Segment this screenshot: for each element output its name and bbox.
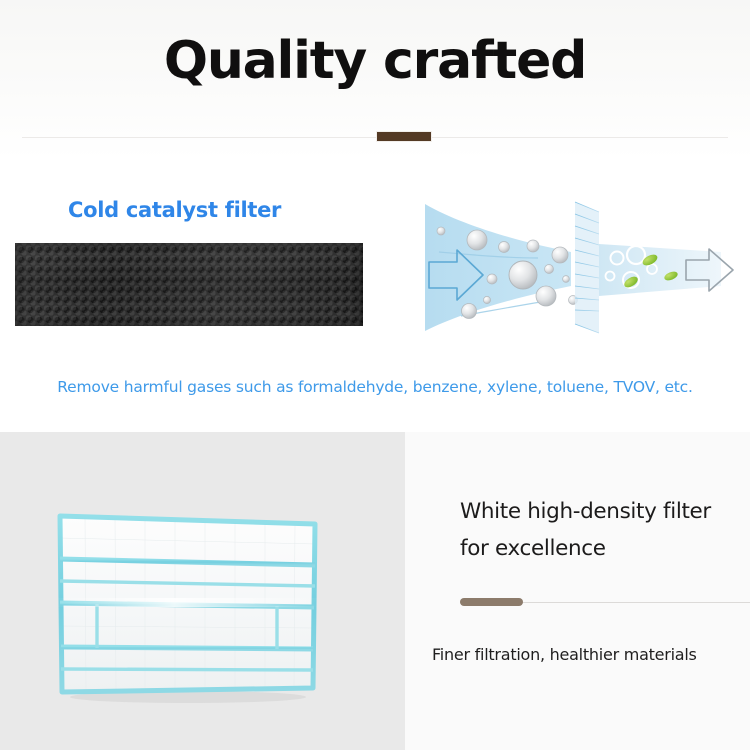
honeycomb-carbon-filter-image bbox=[15, 243, 363, 326]
hero-section: Quality crafted bbox=[0, 0, 750, 160]
white-filter-heading-line1: White high-density filter bbox=[460, 494, 740, 531]
white-high-density-filter-image bbox=[55, 508, 320, 704]
white-filter-heading: White high-density filter for excellence bbox=[460, 494, 740, 568]
cold-catalyst-heading: Cold catalyst filter bbox=[68, 198, 281, 222]
page-title: Quality crafted bbox=[0, 35, 750, 87]
hero-divider-line bbox=[22, 137, 728, 138]
white-filter-subtitle: Finer filtration, healthier materials bbox=[432, 645, 750, 664]
airflow-filtration-diagram bbox=[403, 200, 740, 335]
cold-catalyst-section: Cold catalyst filter bbox=[0, 160, 750, 432]
white-filter-accent-bar bbox=[460, 598, 523, 606]
hero-accent-bar bbox=[376, 131, 432, 142]
white-filter-image-panel bbox=[0, 432, 405, 750]
carbon-filter-sheen bbox=[15, 243, 363, 326]
cold-catalyst-caption: Remove harmful gases such as formaldehyd… bbox=[0, 378, 750, 396]
white-filter-section: White high-density filter for excellence… bbox=[0, 432, 750, 750]
filter-mesh-panel bbox=[575, 202, 599, 333]
product-feature-page: Quality crafted Cold catalyst filter bbox=[0, 0, 750, 750]
white-filter-copy-panel: White high-density filter for excellence… bbox=[405, 432, 750, 750]
white-filter-heading-line2: for excellence bbox=[460, 531, 740, 568]
